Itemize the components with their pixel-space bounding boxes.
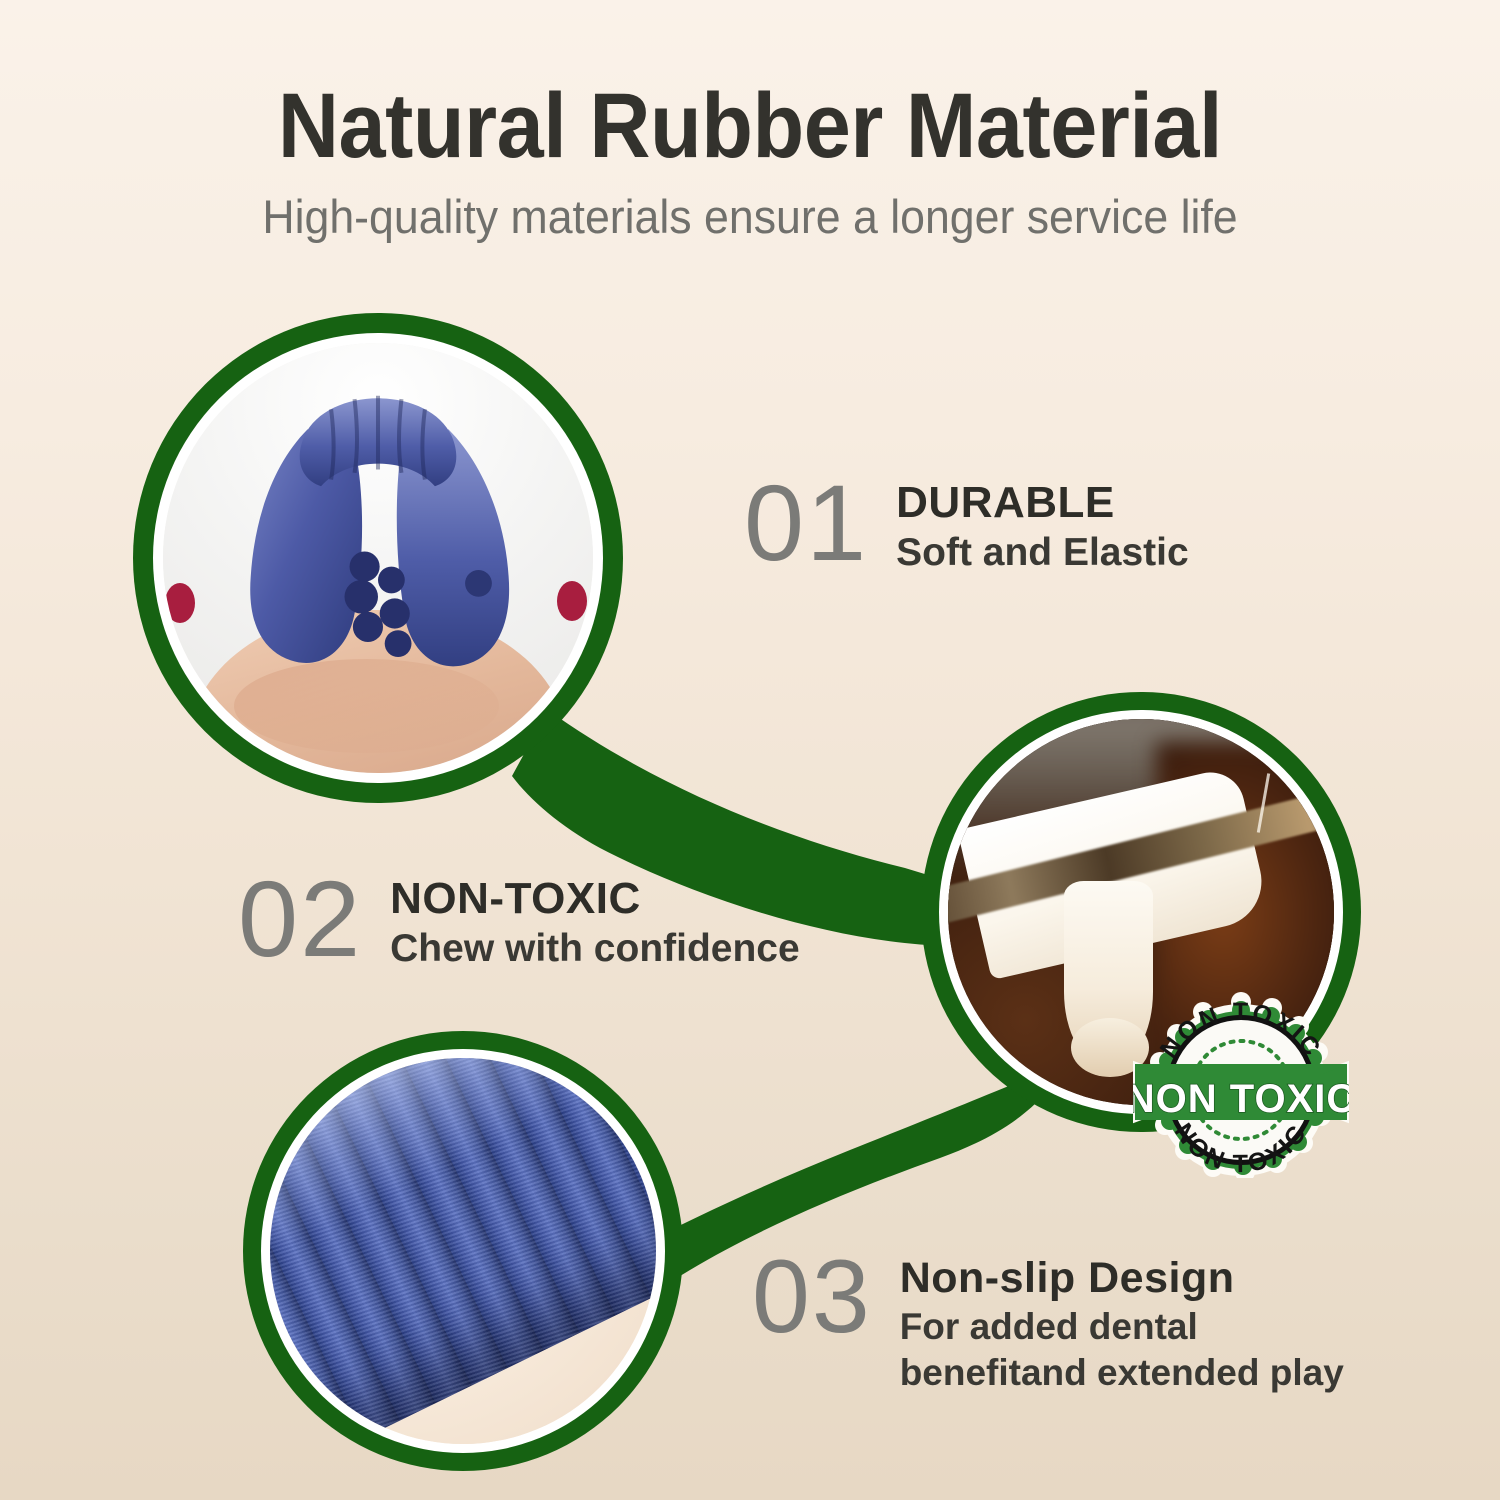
badge-banner: NON TOXIC (1133, 1060, 1349, 1124)
page-subtitle: High-quality materials ensure a longer s… (38, 175, 1463, 243)
page-title: Natural Rubber Material (60, 0, 1440, 175)
feature-subheading-line-1: For added dental (900, 1302, 1344, 1348)
chew-toy-u-shape (206, 369, 550, 687)
feature-subheading-line-2: benefitand extended play (900, 1348, 1344, 1394)
feature-item-nonslip: 03 Non-slip Design For added dental bene… (752, 1248, 1344, 1394)
feature-text-block: DURABLE Soft and Elastic (868, 472, 1189, 575)
non-toxic-badge: NON TOXIC NON TOXIC NON TOXIC (1133, 990, 1349, 1178)
feature-item-nontoxic: 02 NON-TOXIC Chew with confidence (238, 868, 800, 971)
feature-number: 03 (752, 1248, 872, 1347)
feature-item-durable: 01 DURABLE Soft and Elastic (744, 472, 1189, 575)
feature-number: 02 (238, 868, 362, 971)
feature-text-block: NON-TOXIC Chew with confidence (362, 868, 800, 971)
feature-heading: DURABLE (896, 480, 1189, 527)
feature-text-block: Non-slip Design For added dental benefit… (872, 1248, 1344, 1394)
feature-heading: Non-slip Design (900, 1256, 1344, 1302)
feature-heading: NON-TOXIC (390, 876, 800, 923)
badge-banner-text: NON TOXIC (1133, 1077, 1349, 1121)
feature-number: 01 (744, 472, 868, 575)
photo-chew-toy-in-hand (163, 343, 593, 773)
feature-subheading: Chew with confidence (390, 923, 800, 971)
fingernail-right (557, 581, 587, 621)
feature-photo-circle-durable (133, 313, 623, 803)
photo-ribbed-rubber-texture (270, 1058, 656, 1444)
infographic-page: Natural Rubber Material High-quality mat… (0, 0, 1500, 1500)
feature-photo-circle-nonslip (243, 1031, 683, 1471)
header: Natural Rubber Material High-quality mat… (0, 0, 1500, 242)
feature-subheading: Soft and Elastic (896, 527, 1189, 575)
fingernail-left (165, 583, 195, 623)
